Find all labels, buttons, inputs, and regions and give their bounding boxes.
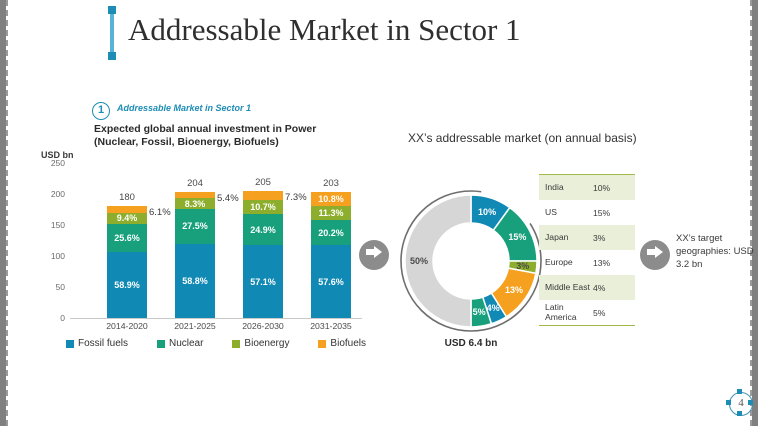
bar-segment-label: 10.8%: [311, 194, 351, 204]
donut-slice-label: 10%: [478, 207, 496, 217]
legend-label: Fossil fuels: [78, 338, 128, 349]
bar-segment-label: 58.9%: [107, 280, 147, 290]
geography-name: India: [539, 183, 593, 192]
bar-segment-label: 27.5%: [175, 221, 215, 231]
table-row[interactable]: India10%: [539, 175, 635, 200]
bar-segment-label: 10.7%: [243, 202, 283, 212]
y-axis-tick: 200: [51, 189, 65, 199]
y-axis-tick: 150: [51, 220, 65, 230]
geography-name: Europe: [539, 258, 593, 267]
y-axis-tick: 100: [51, 251, 65, 261]
geography-share: 3%: [593, 233, 633, 243]
section-subtitle: Addressable Market in Sector 1: [117, 103, 251, 113]
bar-segment: 58.9%: [107, 252, 147, 318]
bar-chart-legend: Fossil fuelsNuclearBioenergyBiofuels: [66, 338, 366, 349]
arrow-right-circle-icon[interactable]: [640, 240, 670, 270]
bar-segment: 25.6%: [107, 224, 147, 253]
x-axis-label: 2021-2025: [158, 321, 232, 331]
bar-chart-heading-line2: (Nuclear, Fossil, Bioenergy, Biofuels): [94, 136, 279, 148]
bar-segment: 10.7%: [243, 200, 283, 214]
y-axis-tick: 250: [51, 158, 65, 168]
bar-segment: 9.4%: [107, 213, 147, 223]
page-handle-bottom[interactable]: [737, 411, 742, 416]
bar-segment-label: 57.1%: [243, 277, 283, 287]
bar-column[interactable]: 9.4%25.6%58.9%: [107, 206, 147, 318]
bar-column[interactable]: 8.3%27.5%58.8%: [175, 192, 215, 318]
bar-segment: [243, 191, 283, 200]
y-axis-tick: 50: [56, 282, 65, 292]
bar-segment: 27.5%: [175, 209, 215, 244]
bar-segment: 24.9%: [243, 214, 283, 246]
geography-name: Middle East: [539, 283, 593, 292]
bar-total-label: 180: [97, 192, 157, 203]
donut-slice-label: 13%: [505, 285, 523, 295]
bar-total-label: 203: [301, 178, 361, 189]
donut-slice-label: 15%: [508, 232, 526, 242]
geography-share: 15%: [593, 208, 633, 218]
section-badge-1: 1: [92, 102, 110, 120]
bar-total-label: 205: [233, 177, 293, 188]
bar-chart-plot: 0501001502002509.4%25.6%58.9%1806.1%8.3%…: [70, 163, 360, 318]
table-row[interactable]: Latin America5%: [539, 300, 635, 325]
geography-table: India10%US15%Japan3%Europe13%Middle East…: [539, 174, 635, 326]
legend-label: Nuclear: [169, 338, 203, 349]
donut-slice-label: 3%: [516, 261, 529, 271]
table-row[interactable]: Europe13%: [539, 250, 635, 275]
bar-segment: 57.6%: [311, 245, 351, 317]
page-handle-right[interactable]: [748, 400, 753, 405]
bar-column[interactable]: 10.8%11.3%20.2%57.6%: [311, 192, 351, 318]
x-axis-label: 2031-2035: [294, 321, 368, 331]
geography-share: 4%: [593, 283, 633, 293]
bar-segment-label: 8.3%: [175, 199, 215, 209]
bar-segment: 10.8%: [311, 192, 351, 206]
geography-name: Latin America: [539, 303, 593, 321]
donut-chart-caption: USD 6.4 bn: [398, 338, 544, 349]
legend-swatch: [157, 340, 165, 348]
bar-segment: 11.3%: [311, 206, 351, 220]
donut-slice-label: 4%: [487, 303, 500, 313]
bar-segment: [175, 192, 215, 199]
bar-segment-label: 24.9%: [243, 225, 283, 235]
bar-segment: 58.8%: [175, 244, 215, 318]
legend-swatch: [232, 340, 240, 348]
bar-segment-label: 9.4%: [107, 213, 147, 223]
page-handle-left[interactable]: [726, 400, 731, 405]
legend-label: Bioenergy: [244, 338, 289, 349]
legend-item[interactable]: Bioenergy: [232, 338, 289, 349]
x-axis-label: 2026-2030: [226, 321, 300, 331]
geography-share: 13%: [593, 258, 633, 268]
geography-share: 10%: [593, 183, 633, 193]
title-accent-handle-top[interactable]: [108, 6, 116, 14]
legend-label: Biofuels: [330, 338, 366, 349]
bar-total-label: 204: [165, 178, 225, 189]
bar-growth-label: 7.3%: [285, 192, 307, 203]
bar-segment: [107, 206, 147, 213]
target-geographies-text: XX’s target geographies: USD 3.2 bn: [676, 233, 756, 271]
legend-swatch: [66, 340, 74, 348]
bar-growth-label: 5.4%: [217, 193, 239, 204]
legend-swatch: [318, 340, 326, 348]
arrow-right-circle-icon[interactable]: [359, 240, 389, 270]
bar-segment: 20.2%: [311, 220, 351, 245]
legend-item[interactable]: Nuclear: [157, 338, 203, 349]
table-row[interactable]: Japan3%: [539, 225, 635, 250]
legend-item[interactable]: Biofuels: [318, 338, 366, 349]
y-axis-tick: 0: [60, 313, 65, 323]
x-axis-line: [70, 318, 362, 319]
donut-slice-label: 50%: [410, 256, 428, 266]
title-accent-bar: [110, 10, 114, 54]
bar-chart-heading-line1: Expected global annual investment in Pow…: [94, 123, 316, 135]
title-accent-handle-bottom[interactable]: [108, 52, 116, 60]
slide-canvas: Addressable Market in Sector 1 1 Address…: [6, 0, 752, 426]
bar-growth-label: 6.1%: [149, 207, 171, 218]
bar-segment: 8.3%: [175, 198, 215, 208]
page-handle-top[interactable]: [737, 389, 742, 394]
legend-item[interactable]: Fossil fuels: [66, 338, 128, 349]
donut-slice-label: 5%: [473, 307, 486, 317]
bar-segment-label: 20.2%: [311, 228, 351, 238]
bar-segment-label: 11.3%: [311, 208, 351, 218]
page-title: Addressable Market in Sector 1: [128, 6, 708, 54]
geography-name: US: [539, 208, 593, 217]
donut-chart-heading: XX’s addressable market (on annual basis…: [408, 131, 637, 145]
bar-segment: 57.1%: [243, 245, 283, 318]
table-row[interactable]: Middle East4%: [539, 275, 635, 300]
bar-segment-label: 57.6%: [311, 277, 351, 287]
donut-chart: 10%15%3%13%4%5%50%: [392, 182, 550, 340]
geography-name: Japan: [539, 233, 593, 242]
table-row[interactable]: US15%: [539, 200, 635, 225]
geography-share: 5%: [593, 308, 633, 318]
x-axis-label: 2014-2020: [90, 321, 164, 331]
bar-segment-label: 25.6%: [107, 233, 147, 243]
bar-column[interactable]: 10.7%24.9%57.1%: [243, 191, 283, 318]
bar-segment-label: 58.8%: [175, 276, 215, 286]
